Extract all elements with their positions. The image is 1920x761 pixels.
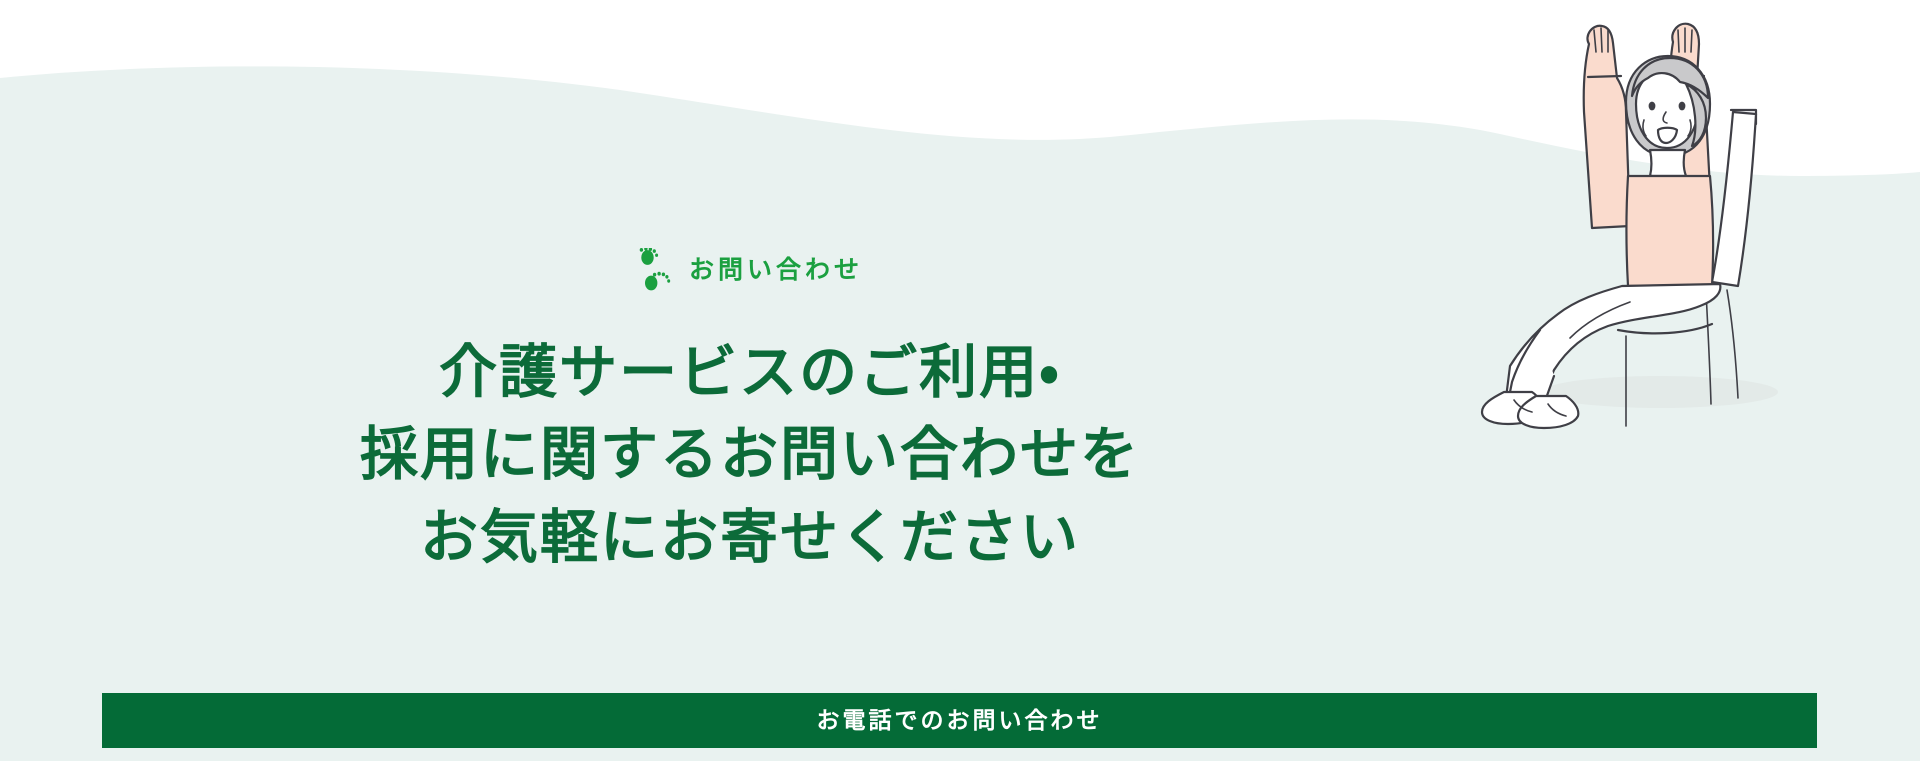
senior-person-illustration: .ln { fill:none; stroke:#3f3f46; stroke-…	[1480, 0, 1820, 480]
eyebrow-label: お問い合わせ	[689, 258, 863, 283]
phone-contact-bar-label: お電話でのお問い合わせ	[817, 709, 1103, 732]
phone-contact-bar[interactable]: お電話でのお問い合わせ	[102, 693, 1817, 748]
page-title: 介護サービスのご利用・ 採用に関するお問い合わせを お気軽にお寄せください	[360, 332, 1140, 579]
headline-line-2: 採用に関するお問い合わせを	[360, 414, 1140, 496]
floor-shadow	[1542, 376, 1778, 408]
footprints-icon	[637, 248, 671, 292]
hero-content: お問い合わせ 介護サービスのご利用・ 採用に関するお問い合わせを お気軽にお寄せ…	[0, 0, 1500, 700]
headline-line-1: 介護サービスのご利用・	[360, 332, 1140, 414]
bottom-strip	[0, 748, 1920, 761]
headline-line-3: お気軽にお寄せください	[360, 497, 1140, 579]
contact-hero-section: .ln { fill:none; stroke:#3f3f46; stroke-…	[0, 0, 1920, 761]
section-eyebrow: お問い合わせ	[637, 248, 863, 292]
